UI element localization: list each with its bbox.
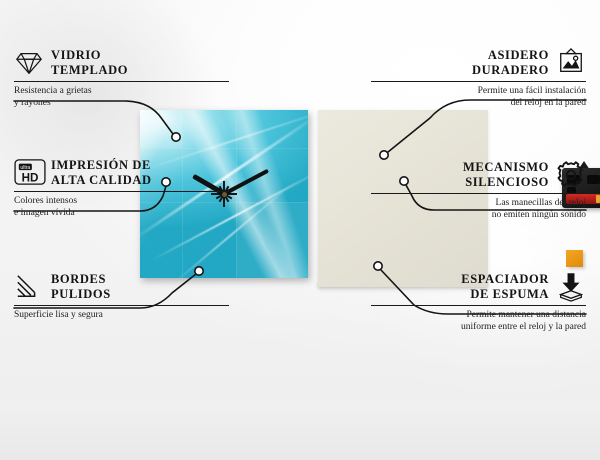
mechanism-slot-right: [587, 175, 600, 184]
feature-header: ESPACIADOR DE ESPUMA: [371, 272, 586, 302]
feature-header: ultra HD IMPRESIÓN DE ALTA CALIDAD: [14, 158, 229, 188]
feature-desc-line1: Colores intensos: [14, 196, 229, 208]
feature-bordes-pulidos[interactable]: BORDES PULIDOS Superficie lisa y segura: [14, 272, 229, 322]
feature-title-line2: DURADERO: [472, 63, 549, 78]
ultra-hd-icon: ultra HD: [14, 158, 44, 188]
feature-title-line2: PULIDOS: [51, 287, 111, 302]
feature-asidero-duradero[interactable]: ASIDERO DURADERO Permite una fácil insta…: [371, 48, 586, 109]
feature-underline: [371, 81, 586, 82]
svg-text:HD: HD: [22, 171, 39, 184]
feature-vidrio-templado[interactable]: VIDRIO TEMPLADO Resistencia a grietas y …: [14, 48, 229, 109]
feature-desc-line2: uniforme entre el reloj y la pared: [371, 322, 586, 334]
feature-desc-line2: e imagen vívida: [14, 208, 229, 220]
feature-header: ASIDERO DURADERO: [371, 48, 586, 78]
feature-espaciador-de-espuma[interactable]: ESPACIADOR DE ESPUMA Permite mantener un…: [371, 272, 586, 333]
feature-title-line2: ALTA CALIDAD: [51, 173, 152, 188]
feature-title-line2: SILENCIOSO: [463, 175, 549, 190]
picture-frame-hanger-icon: [556, 48, 586, 78]
feature-header: BORDES PULIDOS: [14, 272, 229, 302]
feature-underline: [14, 305, 229, 306]
feature-title-line2: TEMPLADO: [51, 63, 128, 78]
feature-desc-line1: Permite mantener una distancia: [371, 310, 586, 322]
feature-title-line2: DE ESPUMA: [461, 287, 549, 302]
foam-spacer: [566, 250, 583, 267]
feature-desc-line2: del reloj en la pared: [371, 98, 586, 110]
feature-title-line1: BORDES: [51, 272, 111, 287]
feature-desc-line2: y rayones: [14, 98, 229, 110]
feature-impresion-alta-calidad[interactable]: ultra HD IMPRESIÓN DE ALTA CALIDAD Color…: [14, 158, 229, 219]
svg-text:ultra: ultra: [20, 165, 30, 171]
feature-underline: [371, 305, 586, 306]
feature-header: MECANISMO SILENCIOSO: [371, 160, 586, 190]
feature-title-line1: VIDRIO: [51, 48, 128, 63]
feature-desc-line2: no emiten ningún sonido: [371, 210, 586, 222]
infographic-canvas: VIDRIO TEMPLADO Resistencia a grietas y …: [0, 0, 600, 400]
feature-title-line1: IMPRESIÓN DE: [51, 158, 152, 173]
diamond-icon: [14, 48, 44, 78]
feature-underline: [371, 193, 586, 194]
polished-edges-icon: [14, 272, 44, 302]
feature-underline: [14, 81, 229, 82]
feature-mecanismo-silencioso[interactable]: MECANISMO SILENCIOSO Las manecillas del …: [371, 160, 586, 221]
down-arrow-pad-icon: [556, 272, 586, 302]
feature-desc-line1: Permite una fácil instalación: [371, 86, 586, 98]
feature-header: VIDRIO TEMPLADO: [14, 48, 229, 78]
feature-desc-line1: Las manecillas del reloj: [371, 198, 586, 210]
feature-underline: [14, 191, 229, 192]
feature-title-line1: ESPACIADOR: [461, 272, 549, 287]
feature-title-line1: ASIDERO: [472, 48, 549, 63]
gear-icon: [556, 160, 586, 190]
feature-desc-line1: Resistencia a grietas: [14, 86, 229, 98]
feature-title-line1: MECANISMO: [463, 160, 549, 175]
feature-desc-line1: Superficie lisa y segura: [14, 310, 229, 322]
